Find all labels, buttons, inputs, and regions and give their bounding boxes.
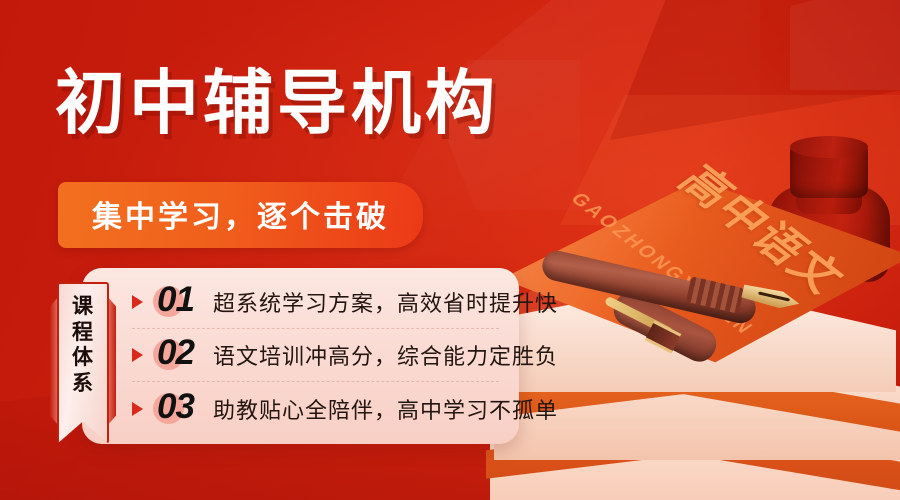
feature-row: 01 超系统学习方案，高效省时提升快	[132, 276, 499, 329]
background-polygon-c	[790, 0, 900, 90]
feature-number: 02	[157, 333, 194, 373]
triangle-bullet-icon	[132, 402, 143, 416]
feature-row: 02 语文培训冲高分，综合能力定胜负	[132, 329, 499, 382]
feature-card: 01 超系统学习方案，高效省时提升快 02 语文培训冲高分，综合能力定胜负 03	[82, 268, 519, 444]
feature-list: 01 超系统学习方案，高效省时提升快 02 语文培训冲高分，综合能力定胜负 03	[132, 276, 499, 436]
ink-bottle-cap-top	[790, 136, 868, 158]
feature-number-group: 03	[152, 388, 204, 430]
subtitle-badge: 集中学习，逐个击破	[58, 182, 423, 248]
promo-banner: GAOZHONGYUWEN 高中语文 初中辅导机构 集中学习，逐个击破 01 超…	[0, 0, 900, 500]
section-ribbon: 课程体系	[57, 282, 109, 444]
page-title: 初中辅导机构	[55, 68, 499, 138]
triangle-bullet-icon	[132, 295, 143, 309]
feature-number-group: 01	[152, 281, 204, 323]
feature-text: 超系统学习方案，高效省时提升快	[213, 286, 558, 318]
section-label: 课程体系	[57, 294, 109, 396]
feature-number: 03	[157, 387, 194, 427]
feature-number-group: 02	[152, 334, 204, 376]
triangle-bullet-icon	[132, 348, 143, 362]
feature-text: 助教贴心全陪伴，高中学习不孤单	[213, 393, 558, 425]
feature-row: 03 助教贴心全陪伴，高中学习不孤单	[132, 382, 499, 435]
feature-number: 01	[157, 280, 194, 320]
feature-text: 语文培训冲高分，综合能力定胜负	[213, 339, 558, 371]
fountain-pen-illustration	[552, 268, 812, 378]
